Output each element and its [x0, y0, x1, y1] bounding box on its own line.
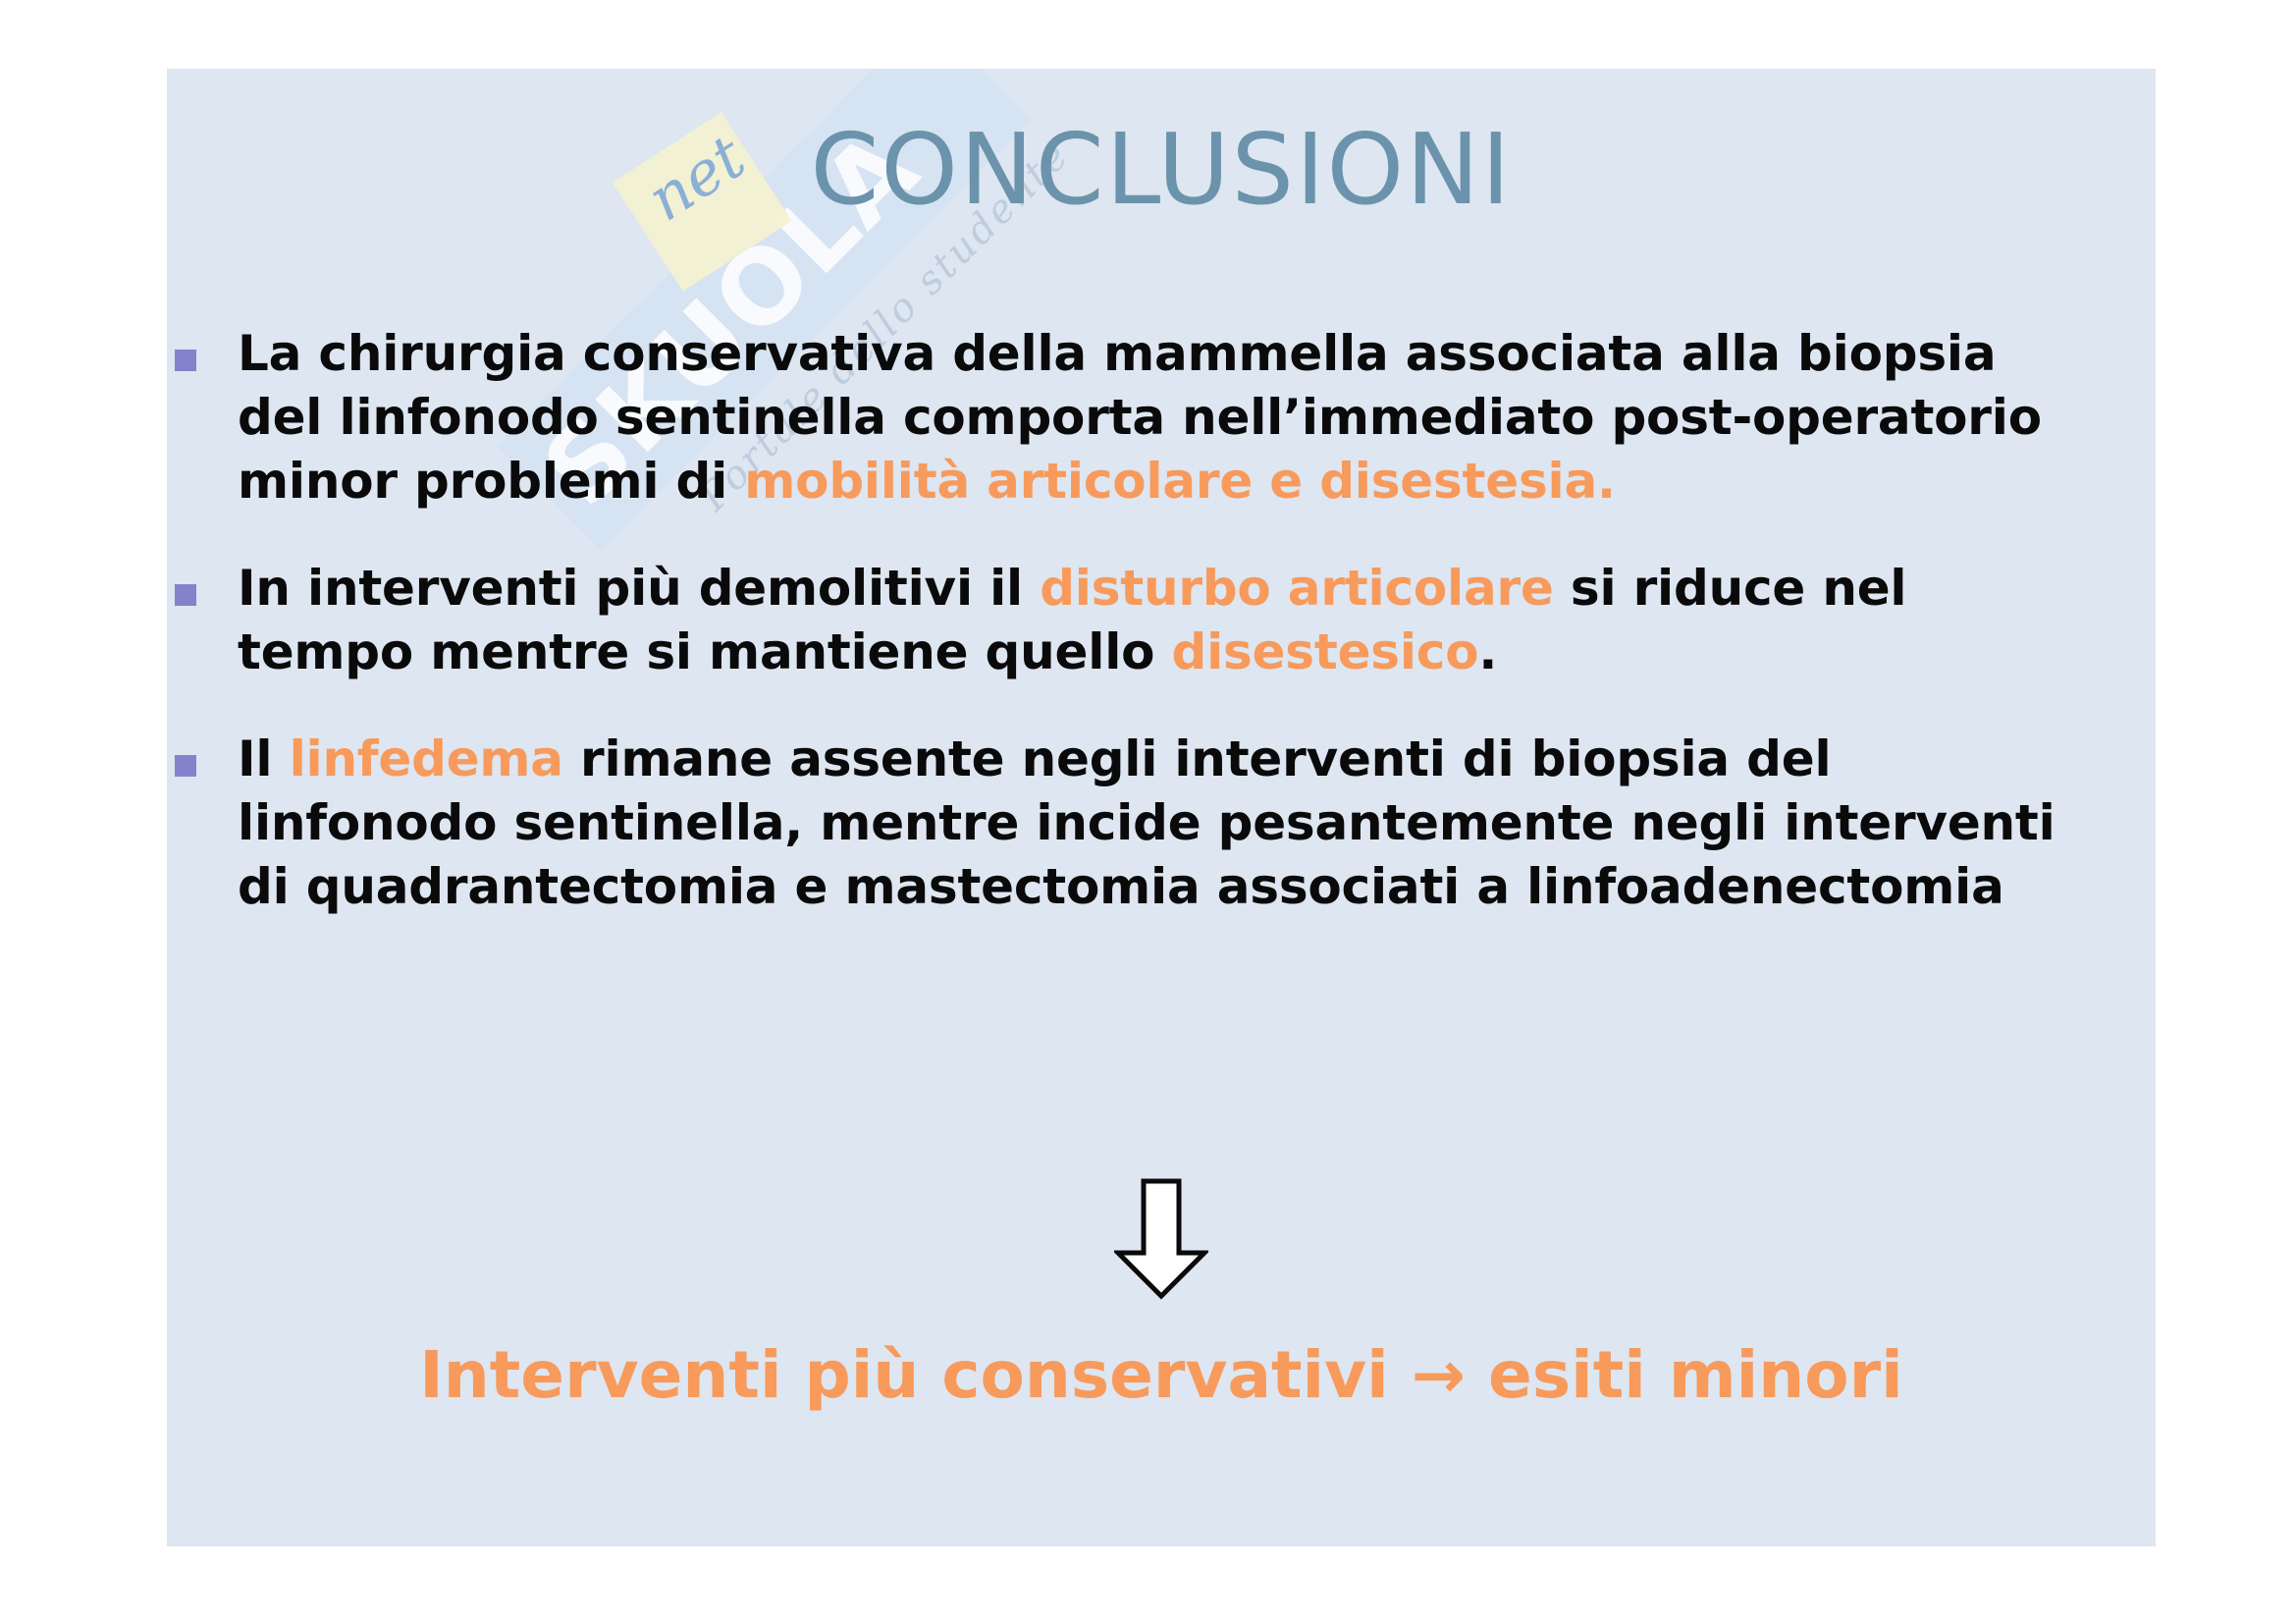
list-item: Il linfedema rimane assente negli interv… [167, 728, 2156, 919]
list-item: In interventi più demolitivi il disturbo… [167, 557, 2156, 684]
slide-canvas: SKUOLA net Portale dello studente CONCLU… [167, 69, 2156, 1546]
plain-phrase: In interventi più demolitivi il [238, 560, 1040, 617]
highlighted-phrase: disestesico [1172, 623, 1479, 680]
square-bullet-icon [175, 755, 196, 777]
highlighted-phrase: disturbo articolare [1040, 560, 1553, 617]
list-item: La chirurgia conservativa della mammella… [167, 322, 2156, 514]
bullet-text-2: In interventi più demolitivi il disturbo… [238, 557, 2097, 684]
plain-phrase: Il [238, 730, 290, 787]
square-bullet-icon [175, 584, 196, 606]
slide-title: CONCLUSIONI [167, 118, 2156, 221]
bullet-list: La chirurgia conservativa della mammella… [167, 322, 2156, 962]
plain-phrase: . [1478, 623, 1497, 680]
highlighted-phrase: linfedema [290, 730, 563, 787]
highlighted-phrase: mobilità articolare e disestesia. [744, 453, 1616, 510]
square-bullet-icon [175, 350, 196, 371]
down-arrow-container [167, 1178, 2156, 1304]
conclusion-statement: Interventi più conservativi → esiti mino… [167, 1337, 2156, 1413]
bullet-text-3: Il linfedema rimane assente negli interv… [238, 728, 2097, 919]
down-block-arrow-icon [1114, 1178, 1208, 1300]
bullet-text-1: La chirurgia conservativa della mammella… [238, 322, 2097, 514]
